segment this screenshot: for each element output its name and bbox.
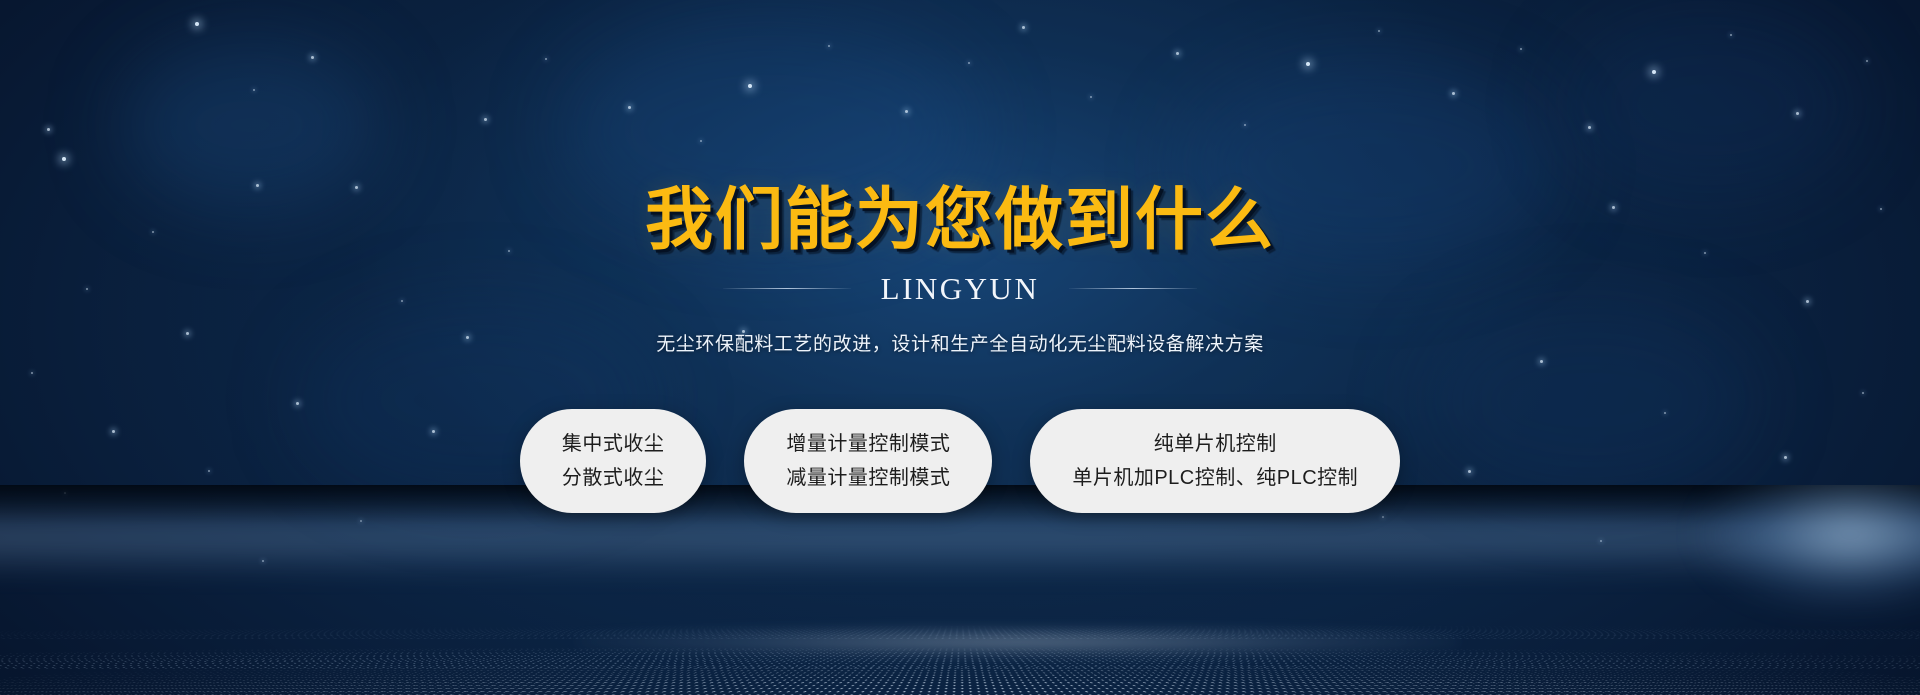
feature-card-line: 分散式收尘 — [562, 468, 665, 488]
divider-left — [723, 288, 851, 289]
tagline-text: 无尘环保配料工艺的改进，设计和生产全自动化无尘配料设备解决方案 — [656, 329, 1264, 356]
page-title: 我们能为您做到什么 — [645, 186, 1275, 257]
hero-banner: 我们能为您做到什么 LINGYUN 无尘环保配料工艺的改进，设计和生产全自动化无… — [0, 0, 1920, 695]
feature-card-line: 增量计量控制模式 — [786, 434, 950, 454]
feature-card[interactable]: 增量计量控制模式 减量计量控制模式 — [744, 409, 992, 513]
feature-card-list: 集中式收尘 分散式收尘 增量计量控制模式 减量计量控制模式 纯单片机控制 单片机… — [520, 409, 1400, 513]
feature-card-line: 单片机加PLC控制、纯PLC控制 — [1072, 468, 1358, 488]
brand-row: LINGYUN — [723, 271, 1198, 307]
banner-content: 我们能为您做到什么 LINGYUN 无尘环保配料工艺的改进，设计和生产全自动化无… — [0, 0, 1920, 695]
feature-card[interactable]: 纯单片机控制 单片机加PLC控制、纯PLC控制 — [1030, 409, 1400, 513]
feature-card[interactable]: 集中式收尘 分散式收尘 — [520, 409, 707, 513]
brand-name-en: LINGYUN — [881, 271, 1040, 307]
feature-card-line: 减量计量控制模式 — [786, 468, 950, 488]
feature-card-line: 纯单片机控制 — [1154, 434, 1277, 454]
divider-right — [1069, 288, 1197, 289]
feature-card-line: 集中式收尘 — [562, 434, 665, 454]
